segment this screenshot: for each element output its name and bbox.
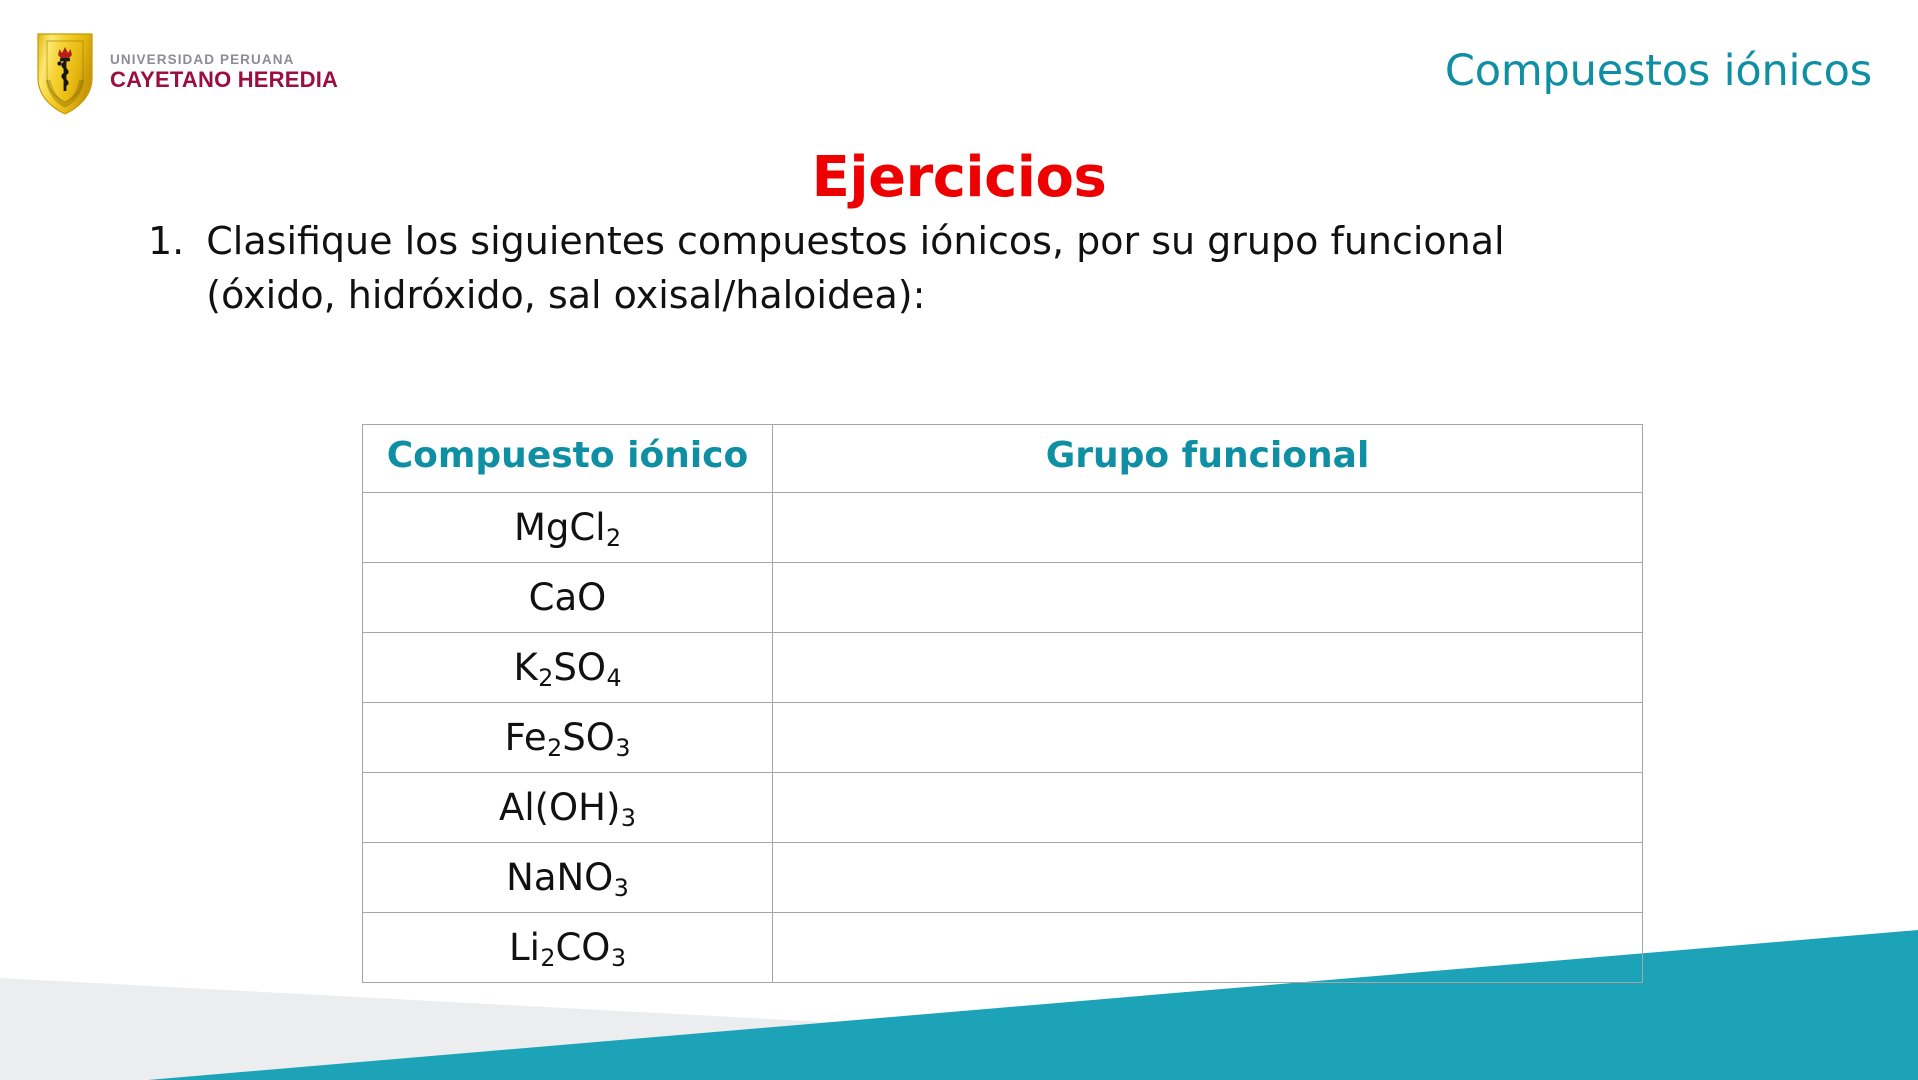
chemical-formula: Li2CO3 (509, 926, 626, 969)
table-row: K2SO4 (363, 633, 1643, 703)
table-row: NaNO3 (363, 843, 1643, 913)
instruction-text: Clasifique los siguientes compuestos ión… (206, 215, 1708, 323)
group-answer-cell[interactable] (773, 843, 1643, 913)
group-answer-cell[interactable] (773, 913, 1643, 983)
instruction-line-2: (óxido, hidróxido, sal oxisal/haloidea): (206, 269, 1708, 323)
university-logo-text: UNIVERSIDAD PERUANA CAYETANO HEREDIA (110, 53, 338, 92)
gray-wedge (0, 978, 1918, 1080)
table-row: Fe2SO3 (363, 703, 1643, 773)
group-answer-cell[interactable] (773, 633, 1643, 703)
group-answer-cell[interactable] (773, 773, 1643, 843)
instruction-block: 1. Clasifique los siguientes compuestos … (148, 215, 1708, 323)
compound-cell: MgCl2 (363, 493, 773, 563)
slide-header: UNIVERSIDAD PERUANA CAYETANO HEREDIA Com… (0, 0, 1918, 140)
table-row: Li2CO3 (363, 913, 1643, 983)
column-header-group: Grupo funcional (773, 425, 1643, 493)
chemical-formula: NaNO3 (506, 856, 629, 899)
university-shield-icon (34, 28, 96, 116)
table-row: CaO (363, 563, 1643, 633)
compound-cell: K2SO4 (363, 633, 773, 703)
exercise-table-wrap: Compuesto iónico Grupo funcional MgCl2Ca… (362, 424, 1642, 983)
chemical-formula: MgCl2 (514, 506, 621, 549)
table-row: MgCl2 (363, 493, 1643, 563)
group-answer-cell[interactable] (773, 563, 1643, 633)
instruction-line-1: Clasifique los siguientes compuestos ión… (206, 219, 1504, 263)
chemical-formula: K2SO4 (514, 646, 622, 689)
group-answer-cell[interactable] (773, 493, 1643, 563)
instruction-number: 1. (148, 215, 184, 269)
compound-cell: Al(OH)3 (363, 773, 773, 843)
table-row: Al(OH)3 (363, 773, 1643, 843)
university-logo: UNIVERSIDAD PERUANA CAYETANO HEREDIA (34, 28, 338, 116)
compound-cell: Li2CO3 (363, 913, 773, 983)
page-title: Ejercicios (0, 145, 1918, 210)
table-header-row: Compuesto iónico Grupo funcional (363, 425, 1643, 493)
header-title: Compuestos iónicos (1445, 46, 1872, 96)
compound-cell: NaNO3 (363, 843, 773, 913)
table-body: MgCl2CaOK2SO4Fe2SO3Al(OH)3NaNO3Li2CO3 (363, 493, 1643, 983)
compound-cell: CaO (363, 563, 773, 633)
exercise-table: Compuesto iónico Grupo funcional MgCl2Ca… (362, 424, 1643, 983)
chemical-formula: CaO (529, 576, 607, 619)
group-answer-cell[interactable] (773, 703, 1643, 773)
logo-line-2: CAYETANO HEREDIA (110, 69, 338, 91)
slide-canvas: UNIVERSIDAD PERUANA CAYETANO HEREDIA Com… (0, 0, 1918, 1080)
column-header-compound: Compuesto iónico (363, 425, 773, 493)
chemical-formula: Fe2SO3 (505, 716, 631, 759)
logo-line-1: UNIVERSIDAD PERUANA (110, 53, 338, 67)
compound-cell: Fe2SO3 (363, 703, 773, 773)
chemical-formula: Al(OH)3 (499, 786, 636, 829)
